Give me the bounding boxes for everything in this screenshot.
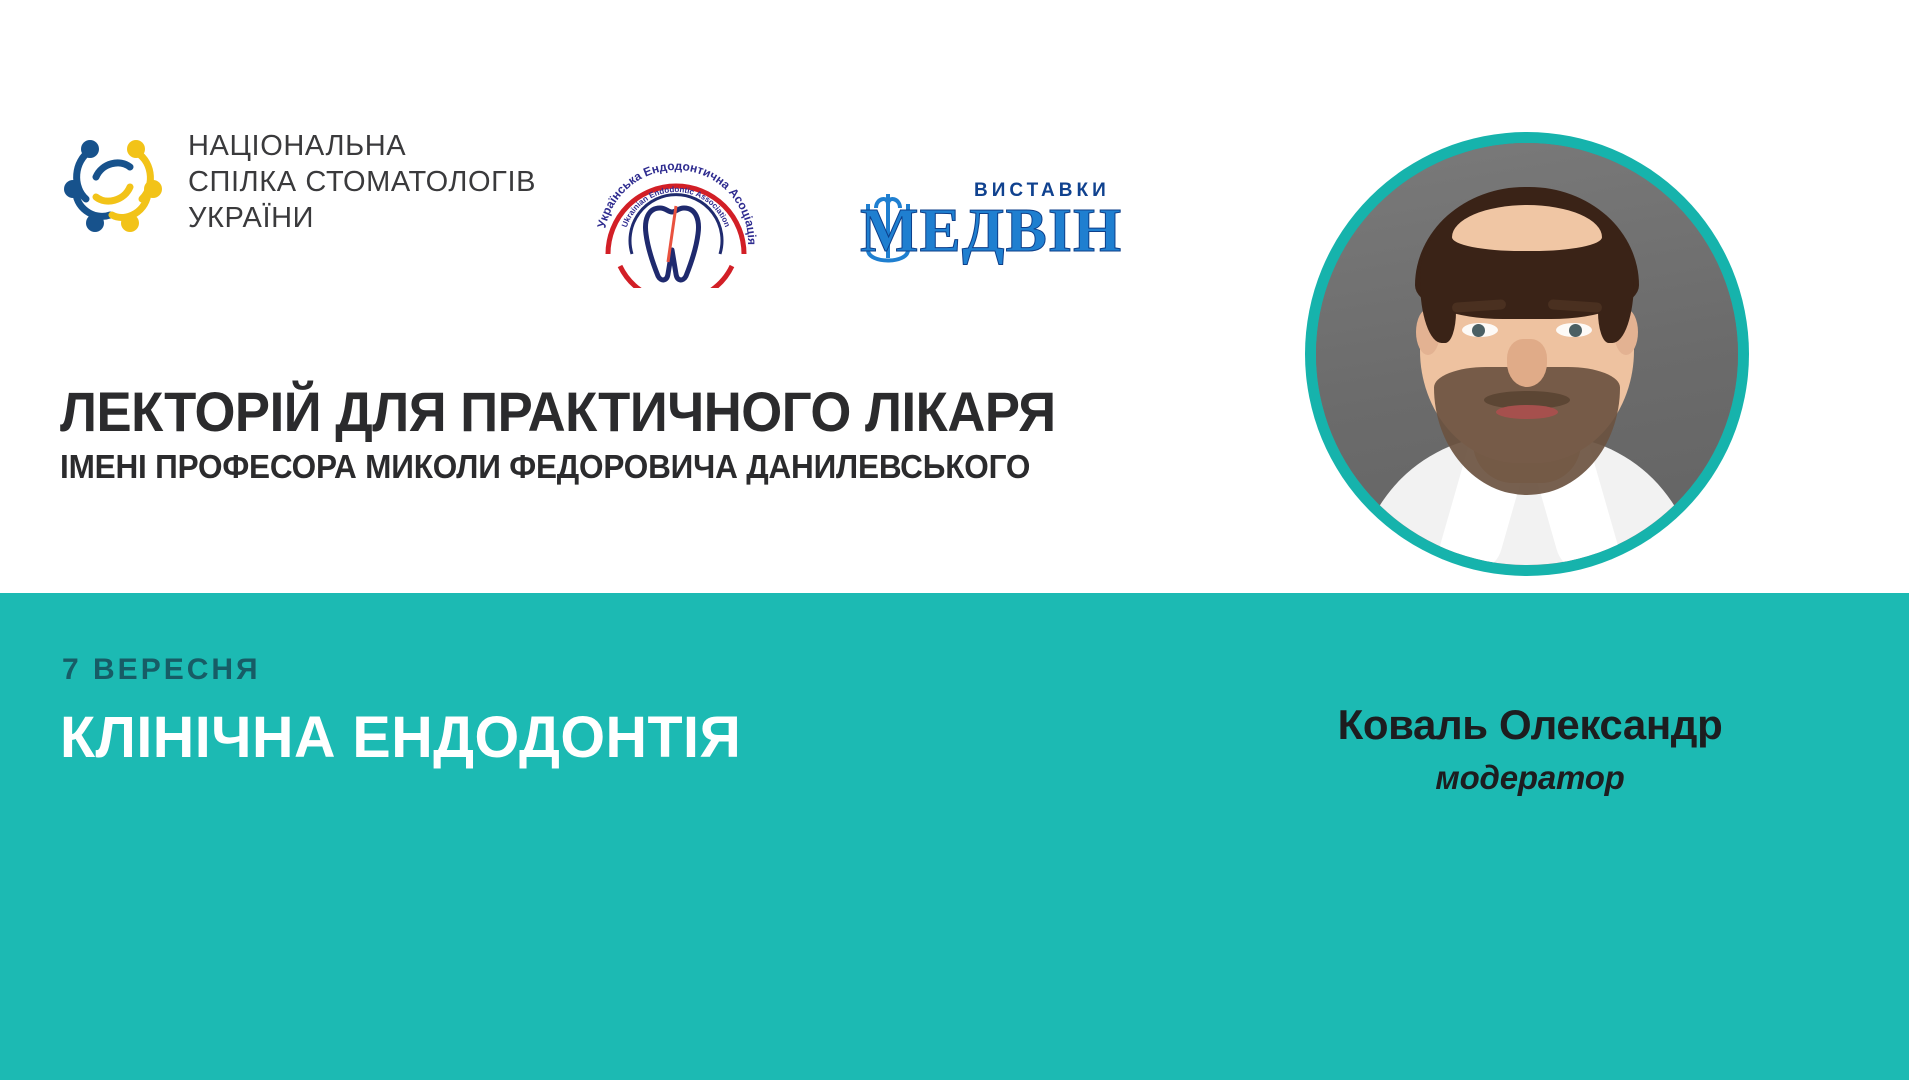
tooth-icon <box>646 206 699 280</box>
right-edge-strip <box>1909 0 1920 1080</box>
nssu-logo: НАЦІОНАЛЬНА СПІЛКА СТОМАТОЛОГІВ УКРАЇНИ <box>60 128 536 236</box>
uea-logo: Українська Ендодонтична Асоціація Ukrain… <box>588 150 764 288</box>
portrait-iris-right <box>1569 324 1582 337</box>
poster-canvas: НАЦІОНАЛЬНА СПІЛКА СТОМАТОЛОГІВ УКРАЇНИ <box>0 0 1920 1080</box>
speaker-role: модератор <box>1305 758 1755 798</box>
medvin-wordmark: МЕДВІН <box>860 200 1122 262</box>
logos-row: НАЦІОНАЛЬНА СПІЛКА СТОМАТОЛОГІВ УКРАЇНИ <box>0 0 1300 330</box>
medvin-logo: ВИСТАВКИ МЕДВІН <box>858 178 1098 278</box>
portrait-iris-left <box>1472 324 1485 337</box>
event-date: 7 ВЕРЕСНЯ <box>62 653 261 687</box>
nssu-line-2: СПІЛКА СТОМАТОЛОГІВ <box>188 164 536 200</box>
nssu-line-3: УКРАЇНИ <box>188 200 536 236</box>
nssu-line-1: НАЦІОНАЛЬНА <box>188 128 536 164</box>
nssu-logo-text: НАЦІОНАЛЬНА СПІЛКА СТОМАТОЛОГІВ УКРАЇНИ <box>188 128 536 236</box>
speaker-name: Коваль Олександр <box>1305 700 1755 750</box>
nssu-emblem-icon <box>60 129 166 235</box>
portrait-photo <box>1316 143 1738 565</box>
teal-background-band <box>0 593 1909 1080</box>
speaker-portrait <box>1305 132 1749 576</box>
headline-block: ЛЕКТОРІЙ ДЛЯ ПРАКТИЧНОГО ЛІКАРЯ ІМЕНІ ПР… <box>60 382 1270 486</box>
portrait-nose <box>1507 339 1547 387</box>
portrait-mouth <box>1496 405 1558 419</box>
headline-subtitle: ІМЕНІ ПРОФЕСОРА МИКОЛИ ФЕДОРОВИЧА ДАНИЛЕ… <box>60 448 1216 486</box>
event-title: КЛІНІЧНА ЕНДОДОНТІЯ <box>60 707 741 769</box>
headline-main-title: ЛЕКТОРІЙ ДЛЯ ПРАКТИЧНОГО ЛІКАРЯ <box>60 382 1197 442</box>
speaker-caption: Коваль Олександр модератор <box>1305 700 1755 798</box>
